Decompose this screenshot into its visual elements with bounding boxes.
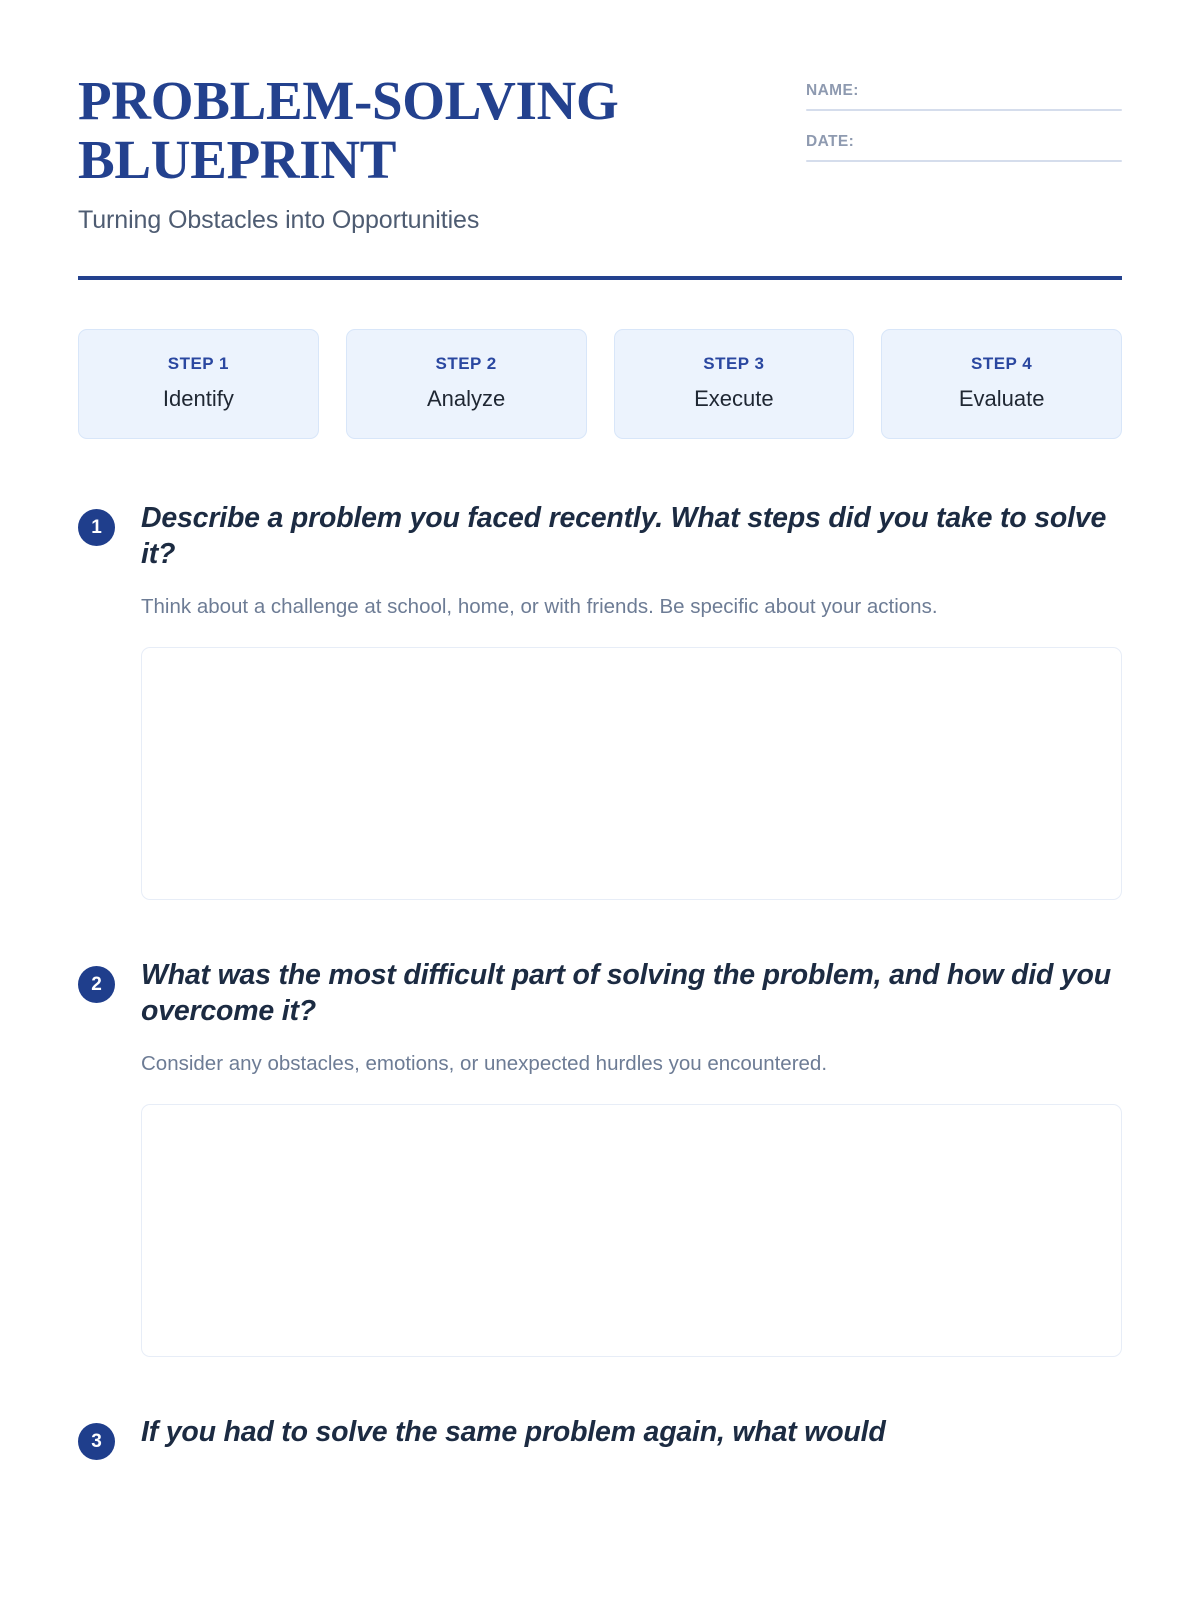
step-4-label: Evaluate <box>892 386 1111 412</box>
question-1-hint: Think about a challenge at school, home,… <box>141 592 1122 621</box>
date-field[interactable]: DATE: <box>806 133 1122 162</box>
question-3-text: If you had to solve the same problem aga… <box>141 1410 886 1450</box>
name-write-line[interactable] <box>806 109 1122 111</box>
title-block: PROBLEM-SOLVING BLUEPRINT Turning Obstac… <box>78 72 718 235</box>
question-3-head: 3 If you had to solve the same problem a… <box>78 1410 1122 1460</box>
header-divider <box>78 276 1122 280</box>
step-4-number: STEP 4 <box>892 354 1111 374</box>
question-2: 2 What was the most difficult part of so… <box>78 953 1122 1357</box>
step-card-3: STEP 3 Execute <box>614 329 855 439</box>
step-card-2: STEP 2 Analyze <box>346 329 587 439</box>
question-1-answer-box[interactable] <box>141 647 1122 900</box>
question-3: 3 If you had to solve the same problem a… <box>78 1410 1122 1460</box>
step-2-label: Analyze <box>357 386 576 412</box>
page-subtitle: Turning Obstacles into Opportunities <box>78 206 718 235</box>
question-1: 1 Describe a problem you faced recently.… <box>78 496 1122 900</box>
step-3-number: STEP 3 <box>625 354 844 374</box>
question-1-text: Describe a problem you faced recently. W… <box>141 496 1122 573</box>
step-card-4: STEP 4 Evaluate <box>881 329 1122 439</box>
name-label: NAME: <box>806 82 1122 109</box>
date-label: DATE: <box>806 133 1122 160</box>
date-write-line[interactable] <box>806 160 1122 162</box>
question-2-head: 2 What was the most difficult part of so… <box>78 953 1122 1030</box>
name-field[interactable]: NAME: <box>806 82 1122 111</box>
page-title: PROBLEM-SOLVING BLUEPRINT <box>78 72 718 190</box>
question-1-badge: 1 <box>78 509 115 546</box>
questions-list: 1 Describe a problem you faced recently.… <box>78 496 1122 1460</box>
meta-fields: NAME: DATE: <box>806 72 1122 162</box>
question-2-text: What was the most difficult part of solv… <box>141 953 1122 1030</box>
steps-row: STEP 1 Identify STEP 2 Analyze STEP 3 Ex… <box>78 329 1122 439</box>
question-2-hint: Consider any obstacles, emotions, or une… <box>141 1049 1122 1078</box>
step-card-1: STEP 1 Identify <box>78 329 319 439</box>
worksheet-header: PROBLEM-SOLVING BLUEPRINT Turning Obstac… <box>78 0 1122 235</box>
step-1-number: STEP 1 <box>89 354 308 374</box>
question-1-head: 1 Describe a problem you faced recently.… <box>78 496 1122 573</box>
worksheet-page: PROBLEM-SOLVING BLUEPRINT Turning Obstac… <box>0 0 1200 1600</box>
question-2-badge: 2 <box>78 966 115 1003</box>
question-2-answer-box[interactable] <box>141 1104 1122 1357</box>
step-3-label: Execute <box>625 386 844 412</box>
step-2-number: STEP 2 <box>357 354 576 374</box>
step-1-label: Identify <box>89 386 308 412</box>
question-3-badge: 3 <box>78 1423 115 1460</box>
